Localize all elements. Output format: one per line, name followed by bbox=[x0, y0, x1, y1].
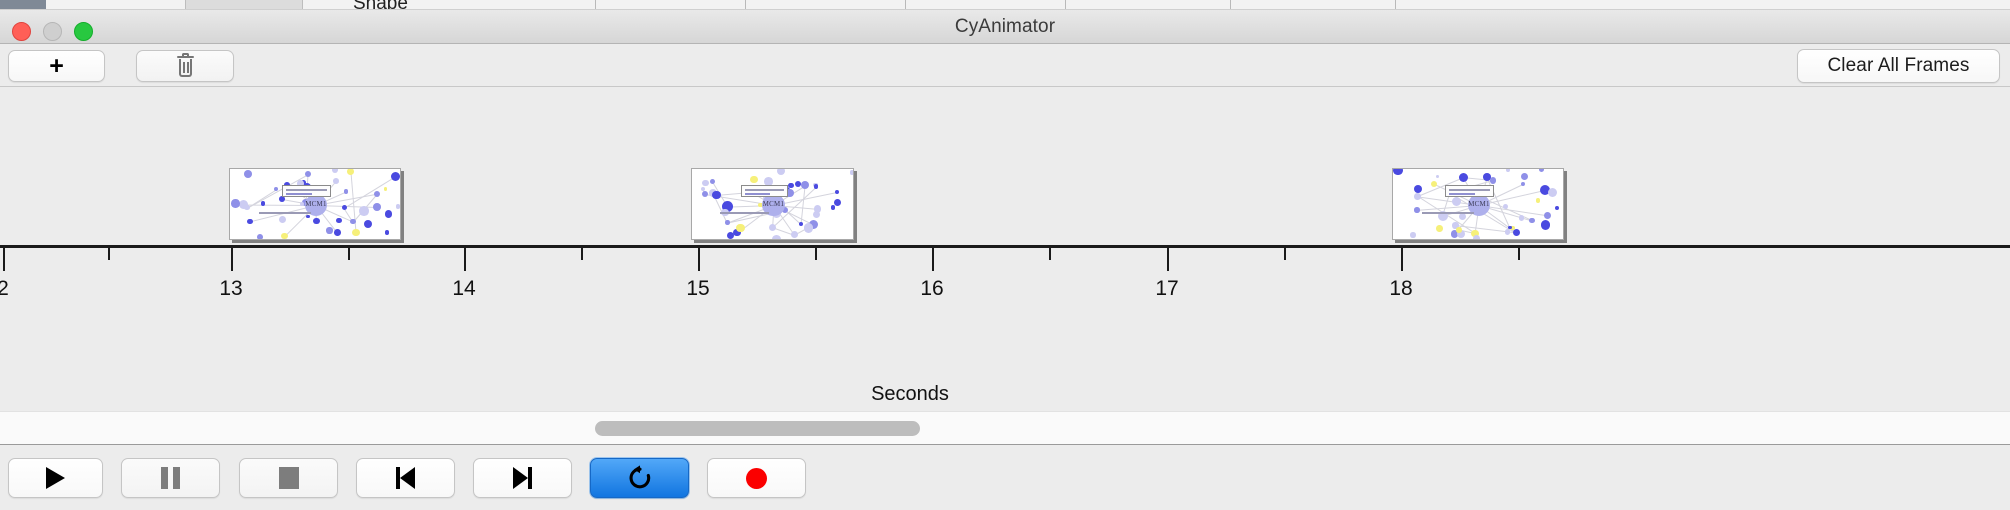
ruler-tick-label: 18 bbox=[1389, 277, 1412, 301]
network-node bbox=[391, 172, 400, 181]
ruler-minor-tick bbox=[1049, 248, 1051, 260]
timeline-frame[interactable]: MCM1 bbox=[229, 168, 401, 240]
play-button[interactable] bbox=[8, 458, 103, 498]
background-seam bbox=[595, 0, 596, 10]
frame-toolbar: + Clear All Frames bbox=[0, 44, 2010, 87]
network-node bbox=[334, 229, 341, 236]
network-node bbox=[1436, 225, 1442, 231]
ruler-major-tick bbox=[3, 248, 5, 271]
ruler-minor-tick bbox=[1284, 248, 1286, 260]
network-node bbox=[750, 176, 757, 183]
network-node bbox=[788, 183, 793, 188]
network-node bbox=[769, 224, 776, 231]
ruler-tick-label: 17 bbox=[1155, 277, 1178, 301]
network-node bbox=[1544, 212, 1551, 219]
background-window-dark-block bbox=[0, 0, 46, 10]
network-graph: MCM1 bbox=[692, 169, 853, 239]
network-node bbox=[727, 232, 734, 239]
network-node bbox=[795, 181, 801, 187]
background-seam bbox=[905, 0, 906, 10]
network-node bbox=[352, 229, 359, 236]
network-node bbox=[801, 181, 809, 189]
record-button[interactable] bbox=[707, 458, 806, 498]
network-node bbox=[1410, 232, 1415, 237]
window-title: CyAnimator bbox=[0, 10, 2010, 44]
timeline-panel[interactable]: MCM1MCM1MCM1 2131415161718 Seconds bbox=[0, 87, 2010, 411]
network-node bbox=[332, 168, 339, 173]
network-node bbox=[385, 230, 390, 235]
network-node bbox=[231, 199, 240, 208]
network-caption bbox=[720, 212, 769, 214]
network-callout bbox=[1445, 185, 1495, 197]
network-node bbox=[396, 204, 400, 208]
ruler-tick-label: 16 bbox=[920, 277, 943, 301]
network-caption bbox=[259, 212, 311, 214]
network-node bbox=[835, 190, 840, 195]
network-node bbox=[725, 220, 729, 224]
network-graph: MCM1 bbox=[230, 169, 400, 239]
network-node bbox=[702, 180, 709, 187]
network-node bbox=[1456, 227, 1462, 233]
stop-button[interactable] bbox=[239, 458, 338, 498]
cyanimator-window: Shape CyAnimator + Clear All Frames MCM1… bbox=[0, 0, 2010, 510]
background-tab-label: Shape bbox=[353, 0, 408, 10]
network-node bbox=[1519, 215, 1524, 220]
ruler-major-tick bbox=[231, 248, 233, 271]
network-node bbox=[1541, 220, 1551, 230]
network-node bbox=[364, 220, 372, 228]
network-node bbox=[336, 218, 341, 223]
network-caption bbox=[1422, 212, 1474, 214]
ruler-major-tick bbox=[932, 248, 934, 271]
ruler-major-tick bbox=[698, 248, 700, 271]
network-node bbox=[1490, 177, 1496, 183]
network-node bbox=[736, 224, 745, 233]
network-node bbox=[244, 205, 250, 211]
network-node bbox=[1393, 168, 1402, 175]
network-node bbox=[702, 191, 708, 197]
network-node bbox=[1436, 175, 1439, 178]
network-node bbox=[326, 227, 332, 233]
skip-to-start-icon bbox=[396, 467, 415, 489]
network-node bbox=[359, 206, 368, 215]
network-node bbox=[384, 187, 387, 190]
network-node bbox=[279, 216, 286, 223]
network-node bbox=[834, 199, 841, 206]
background-seam bbox=[1065, 0, 1066, 10]
network-node bbox=[1536, 198, 1541, 203]
network-callout bbox=[741, 185, 788, 197]
network-node bbox=[831, 205, 836, 210]
network-node bbox=[710, 179, 715, 184]
network-node bbox=[344, 189, 348, 193]
network-node bbox=[791, 231, 798, 238]
timeline-frame[interactable]: MCM1 bbox=[691, 168, 854, 240]
skip-start-button[interactable] bbox=[356, 458, 455, 498]
network-node bbox=[1459, 173, 1468, 182]
network-node bbox=[1473, 235, 1480, 240]
pause-button[interactable] bbox=[121, 458, 220, 498]
background-seam bbox=[1230, 0, 1231, 10]
ruler-minor-tick bbox=[815, 248, 817, 260]
axis-title-seconds: Seconds bbox=[871, 383, 949, 406]
record-icon bbox=[746, 468, 767, 489]
network-node bbox=[374, 191, 380, 197]
network-node bbox=[804, 223, 813, 232]
stop-icon bbox=[279, 467, 299, 489]
ruler-minor-tick bbox=[1518, 248, 1520, 260]
network-node bbox=[385, 210, 392, 217]
network-node bbox=[373, 203, 381, 211]
network-node bbox=[772, 235, 781, 240]
ruler-major-tick bbox=[464, 248, 466, 271]
skip-end-button[interactable] bbox=[473, 458, 572, 498]
network-node bbox=[1452, 197, 1461, 206]
scrollbar-thumb[interactable] bbox=[595, 421, 920, 436]
skip-to-end-icon bbox=[513, 467, 532, 489]
network-node bbox=[1555, 206, 1559, 210]
network-node bbox=[1548, 188, 1558, 198]
network-graph: MCM1 bbox=[1393, 169, 1563, 239]
network-node bbox=[244, 170, 252, 178]
background-tab bbox=[185, 0, 303, 10]
network-node bbox=[1521, 173, 1528, 180]
network-node bbox=[850, 170, 854, 174]
ruler-major-tick bbox=[1401, 248, 1403, 271]
background-seam bbox=[1395, 0, 1396, 10]
network-node bbox=[712, 191, 720, 199]
network-node bbox=[1513, 229, 1520, 236]
pause-icon bbox=[161, 467, 180, 489]
ruler-tick-label: 2 bbox=[0, 277, 9, 301]
plus-icon: + bbox=[49, 54, 64, 79]
background-window-strip: Shape bbox=[0, 0, 2010, 10]
ruler-minor-tick bbox=[108, 248, 110, 260]
network-node bbox=[1539, 168, 1544, 172]
network-node bbox=[1414, 193, 1420, 199]
title-bar: CyAnimator bbox=[0, 10, 2010, 44]
network-node bbox=[333, 178, 339, 184]
timeline-frame[interactable]: MCM1 bbox=[1392, 168, 1564, 240]
ruler-major-tick bbox=[1167, 248, 1169, 271]
network-node bbox=[342, 205, 347, 210]
network-node bbox=[799, 222, 804, 227]
network-node bbox=[347, 168, 354, 175]
network-node bbox=[1505, 229, 1511, 235]
network-node bbox=[306, 215, 310, 219]
network-node bbox=[281, 233, 288, 240]
trash-icon bbox=[177, 56, 194, 77]
ruler-tick-label: 14 bbox=[452, 277, 475, 301]
network-node bbox=[1414, 207, 1419, 212]
play-icon bbox=[46, 467, 65, 489]
timeline-horizontal-scrollbar[interactable] bbox=[0, 411, 2010, 445]
network-node bbox=[701, 187, 705, 191]
network-node bbox=[1529, 218, 1535, 224]
network-node bbox=[1506, 168, 1510, 172]
ruler-minor-tick bbox=[348, 248, 350, 260]
network-node bbox=[313, 218, 320, 225]
network-node bbox=[257, 234, 263, 240]
ruler-minor-tick bbox=[581, 248, 583, 260]
ruler-tick-label: 13 bbox=[219, 277, 242, 301]
loop-button[interactable] bbox=[590, 458, 689, 498]
network-node bbox=[247, 219, 252, 224]
transport-bar: Animation Speed: bbox=[0, 446, 2010, 510]
network-node bbox=[814, 184, 818, 188]
network-node bbox=[1521, 182, 1526, 187]
delete-frame-button[interactable] bbox=[136, 50, 234, 82]
network-node bbox=[1503, 204, 1508, 209]
background-seam bbox=[745, 0, 746, 10]
ruler-axis-line bbox=[0, 245, 2010, 248]
network-node bbox=[813, 211, 820, 218]
network-callout bbox=[282, 185, 332, 197]
add-frame-button[interactable]: + bbox=[8, 50, 105, 82]
clear-all-frames-button[interactable]: Clear All Frames bbox=[1797, 49, 2000, 83]
network-node bbox=[305, 171, 311, 177]
loop-icon bbox=[627, 465, 653, 491]
network-node bbox=[1414, 185, 1422, 193]
ruler-tick-label: 15 bbox=[686, 277, 709, 301]
network-node bbox=[777, 168, 785, 175]
